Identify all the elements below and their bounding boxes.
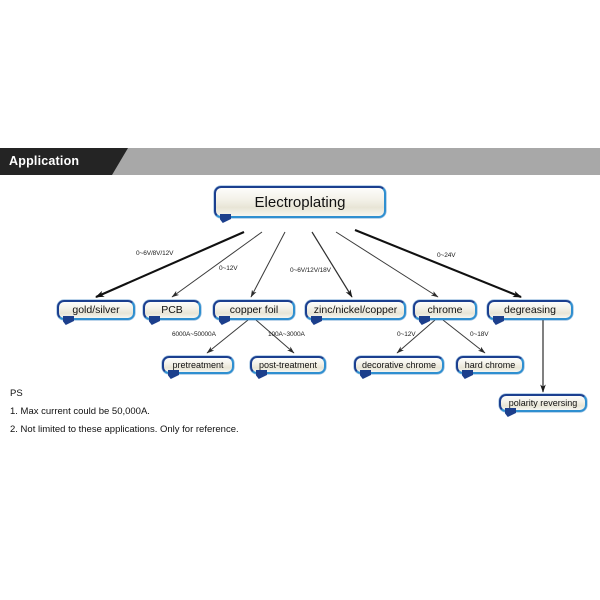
node-degreasing[interactable]: degreasing	[487, 300, 573, 320]
node-copper-foil[interactable]: copper foil	[213, 300, 295, 320]
ps-notes-heading: PS	[10, 388, 430, 399]
edge-label-post-treatment-current: 100A~3000A	[268, 331, 305, 338]
edge-root-to-pcb	[172, 232, 262, 297]
edge-label-gold-silver-voltage: 0~6V/8V/12V	[136, 250, 173, 257]
node-chrome-label: chrome	[427, 305, 462, 316]
node-hard-chrome[interactable]: hard chrome	[456, 356, 524, 374]
node-decorative-chrome-label: decorative chrome	[362, 361, 436, 370]
node-decorative-chrome[interactable]: decorative chrome	[354, 356, 444, 374]
node-copper-foil-label: copper foil	[230, 305, 278, 316]
edge-label-decorative-chrome-voltage: 0~12V	[397, 331, 415, 338]
node-post-treatment[interactable]: post-treatment	[250, 356, 326, 374]
edge-label-pcb-voltage: 0~12V	[219, 265, 237, 272]
ps-note-item-2: 2. Not limited to these applications. On…	[10, 424, 430, 435]
node-gold-silver[interactable]: gold/silver	[57, 300, 135, 320]
node-degreasing-label: degreasing	[504, 305, 556, 316]
ps-note-item-1: 1. Max current could be 50,000A.	[10, 406, 430, 417]
node-polarity-reversing-label: polarity reversing	[509, 399, 578, 408]
node-zinc-nickel-copper-label: zinc/nickel/copper	[314, 305, 397, 316]
node-electroplating[interactable]: Electroplating	[214, 186, 386, 218]
edge-label-degreasing-voltage: 0~24V	[437, 252, 455, 259]
ps-notes: PS 1. Max current could be 50,000A. 2. N…	[10, 388, 430, 442]
node-electroplating-label: Electroplating	[255, 195, 346, 210]
node-post-treatment-label: post-treatment	[259, 361, 317, 370]
diagram-canvas: Application	[0, 0, 600, 600]
edge-label-zinc-nickel-copper-voltage: 0~6V/12V/18V	[290, 267, 331, 274]
node-hard-chrome-label: hard chrome	[465, 361, 516, 370]
edge-root-to-chrome	[336, 232, 438, 297]
node-zinc-nickel-copper[interactable]: zinc/nickel/copper	[305, 300, 406, 320]
node-polarity-reversing[interactable]: polarity reversing	[499, 394, 587, 412]
edge-root-to-zinc-nickel-copper	[312, 232, 352, 297]
node-pcb[interactable]: PCB	[143, 300, 201, 320]
edge-root-to-degreasing	[355, 230, 521, 297]
node-pcb-label: PCB	[161, 305, 183, 316]
edge-label-hard-chrome-voltage: 0~18V	[470, 331, 488, 338]
node-gold-silver-label: gold/silver	[72, 305, 119, 316]
node-pretreatment[interactable]: pretreatment	[162, 356, 234, 374]
edge-root-to-copper-foil	[251, 232, 285, 297]
node-pretreatment-label: pretreatment	[172, 361, 223, 370]
edge-label-pretreatment-current: 6000A~50000A	[172, 331, 216, 338]
node-chrome[interactable]: chrome	[413, 300, 477, 320]
